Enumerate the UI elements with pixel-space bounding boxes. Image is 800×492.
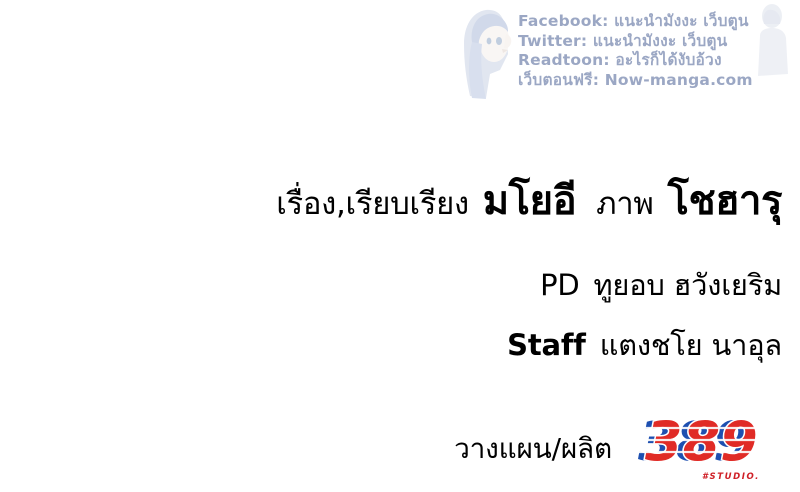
credit-line-staff: Staffแตงชโย นาอุล: [0, 322, 782, 368]
watermark-line-website: เว็บตอนฟรี: Now-manga.com: [518, 71, 800, 91]
credit-name-art: โชฮารุ: [668, 178, 783, 224]
watermark-line-readtoon: Readtoon: อะไรก็ได้งับอ้วง: [518, 51, 800, 71]
credit-role-art: ภาพ: [596, 186, 653, 222]
credit-name-staff: แตงชโย นาอุล: [600, 328, 782, 362]
credit-name-pd: ทูยอบ ฮวังเยริม: [594, 268, 783, 302]
watermark-block: Facebook: แนะนำมังงะ เว็บตูน Twitter: แน…: [452, 0, 800, 112]
credit-line-story-and-art: เรื่อง,เรียบเรียงมโยอีภาพโชฮารุ: [0, 168, 782, 232]
credit-role-staff: Staff: [507, 328, 586, 362]
studio-389-logo: 389 389 389 #STUDIO.: [636, 414, 766, 484]
credit-role-pd: PD: [540, 268, 579, 302]
watermark-line-twitter: Twitter: แนะนำมังงะ เว็บตูน: [518, 32, 800, 52]
studio-389-logo-icon: 389 389 389: [636, 414, 766, 476]
svg-text:389: 389: [645, 414, 758, 473]
watermark-line-facebook: Facebook: แนะนำมังงะ เว็บตูน: [518, 12, 800, 32]
credit-line-pd: PDทูยอบ ฮวังเยริม: [0, 262, 782, 308]
credit-role-production: วางแผน/ผลิต: [454, 427, 612, 471]
credit-name-story: มโยอี: [483, 178, 576, 224]
watermark-text-lines: Facebook: แนะนำมังงะ เว็บตูน Twitter: แน…: [518, 12, 800, 90]
credit-line-production: วางแผน/ผลิต 389 389 389 #STUDIO.: [0, 414, 782, 484]
studio-389-logo-subtitle: #STUDIO.: [702, 472, 760, 482]
credit-role-story: เรื่อง,เรียบเรียง: [276, 186, 469, 222]
